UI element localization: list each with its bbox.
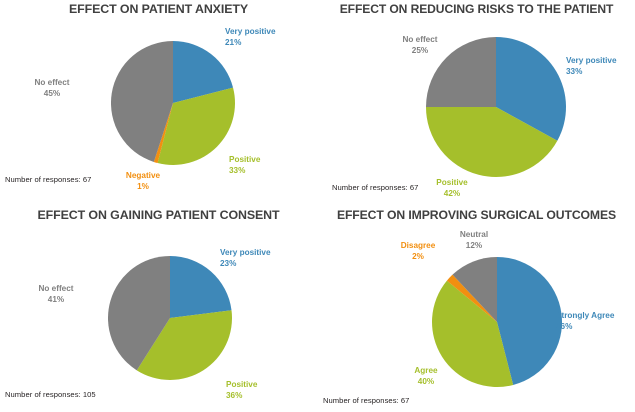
slice-label-agree: Agree 40% [402,366,450,387]
chart-panel-reducing-risks: EFFECT ON REDUCING RISKS TO THE PATIENT … [318,0,635,206]
slice-label-neutral: Neutral 12% [448,230,500,251]
chart-panel-patient-anxiety: EFFECT ON PATIENT ANXIETY Very positive … [0,0,317,206]
responses-count: Number of responses: 67 [5,175,91,184]
slice-label-no-effect: No effect 25% [392,35,448,56]
slice-label-pct: 46% [556,322,614,333]
slice-label-name: Positive [226,380,257,389]
pie-chart-patient-anxiety [111,41,235,165]
slice-label-strongly-agree: Strongly Agree 46% [556,311,614,332]
slice-label-pct: 2% [390,252,446,263]
pie-slices [432,257,562,387]
slice-label-pct: 33% [229,166,260,177]
responses-count: Number of responses: 67 [323,396,409,405]
responses-count: Number of responses: 105 [5,390,96,399]
chart-title: EFFECT ON PATIENT ANXIETY [0,2,317,16]
slice-label-pct: 41% [22,295,90,306]
slice-label-name: Negative [126,171,160,180]
slice-label-pct: 40% [402,377,450,388]
pie-chart-surgical-outcomes [432,257,562,387]
slice-label-disagree: Disagree 2% [390,241,446,262]
pie-svg [432,257,562,387]
slice-label-pct: 12% [448,241,500,252]
slice-label-pct: 42% [424,189,480,200]
slice-label-no-effect: No effect 41% [22,284,90,305]
slice-label-name: Positive [229,155,260,164]
chart-title: EFFECT ON REDUCING RISKS TO THE PATIENT [318,2,635,16]
slice-label-name: Agree [414,366,437,375]
slice-label-pct: 23% [220,259,271,270]
slice-label-very-positive: Very positive 21% [225,27,276,48]
pie-svg [108,256,232,380]
chart-title: EFFECT ON IMPROVING SURGICAL OUTCOMES [318,208,635,222]
slice-label-pct: 36% [226,391,257,402]
pie-slices [426,37,566,177]
slice-label-name: No effect [38,284,73,293]
slice-label-very-positive: Very positive 23% [220,248,271,269]
slice-label-name: Strongly Agree [556,311,614,320]
chart-panel-patient-consent: EFFECT ON GAINING PATIENT CONSENT Very p… [0,206,317,412]
pie-svg [111,41,235,165]
pie-chart-reducing-risks [426,37,566,177]
pie-chart-figure: EFFECT ON PATIENT ANXIETY Very positive … [0,0,635,412]
slice-label-name: Very positive [566,56,617,65]
slice-label-pct: 21% [225,38,276,49]
pie-slices [111,41,235,165]
slice-label-name: Neutral [460,230,488,239]
slice-label-name: Very positive [225,27,276,36]
slice-label-name: No effect [402,35,437,44]
slice-label-pct: 25% [392,46,448,57]
slice-label-pct: 1% [113,182,173,193]
slice-label-negative: Negative 1% [113,171,173,192]
slice-label-name: Positive [436,178,467,187]
slice-label-no-effect: No effect 45% [18,78,86,99]
chart-panel-surgical-outcomes: EFFECT ON IMPROVING SURGICAL OUTCOMES St… [318,206,635,412]
slice-label-name: No effect [34,78,69,87]
responses-count: Number of responses: 67 [332,183,418,192]
slice-label-name: Very positive [220,248,271,257]
slice-label-pct: 45% [18,89,86,100]
pie-chart-patient-consent [108,256,232,380]
slice-label-positive: Positive 42% [424,178,480,199]
pie-slices [108,256,232,380]
slice-label-positive: Positive 36% [226,380,257,401]
slice-label-name: Disagree [401,241,436,250]
slice-label-very-positive: Very positive 33% [566,56,617,77]
chart-title: EFFECT ON GAINING PATIENT CONSENT [0,208,317,222]
slice-label-pct: 33% [566,67,617,78]
slice-label-positive: Positive 33% [229,155,260,176]
pie-svg [426,37,566,177]
